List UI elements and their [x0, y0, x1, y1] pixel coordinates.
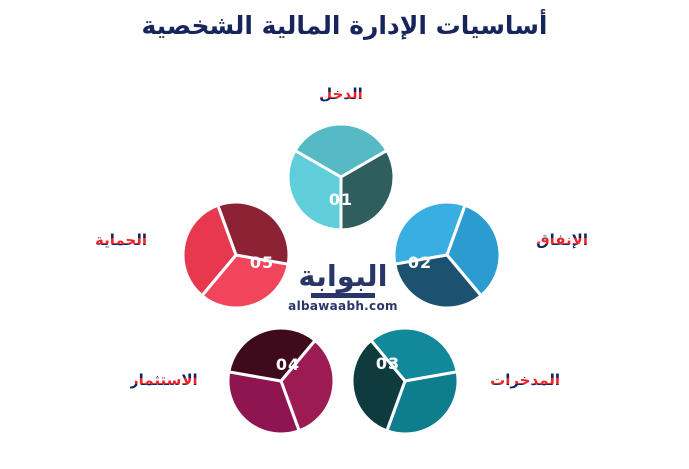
node-03-label: المدخرات: [470, 371, 560, 389]
pie-chart-04[interactable]: [228, 328, 334, 434]
pie-chart-02[interactable]: [394, 202, 500, 308]
node-04-label: الاستثمار: [130, 371, 220, 389]
infographic-canvas: أساسيات الإدارة المالية الشخصية 01 الدخل…: [0, 0, 689, 469]
pie-chart-03[interactable]: [352, 328, 458, 434]
node-05-label: الحماية: [95, 231, 175, 249]
page-title: أساسيات الإدارة المالية الشخصية: [0, 10, 689, 41]
watermark-divider: [311, 293, 375, 298]
pie-chart-01[interactable]: [288, 124, 394, 230]
node-02-label: الإنفاق: [508, 231, 588, 249]
node-01-label: الدخل: [306, 85, 376, 103]
pie-chart-05[interactable]: [183, 202, 289, 308]
